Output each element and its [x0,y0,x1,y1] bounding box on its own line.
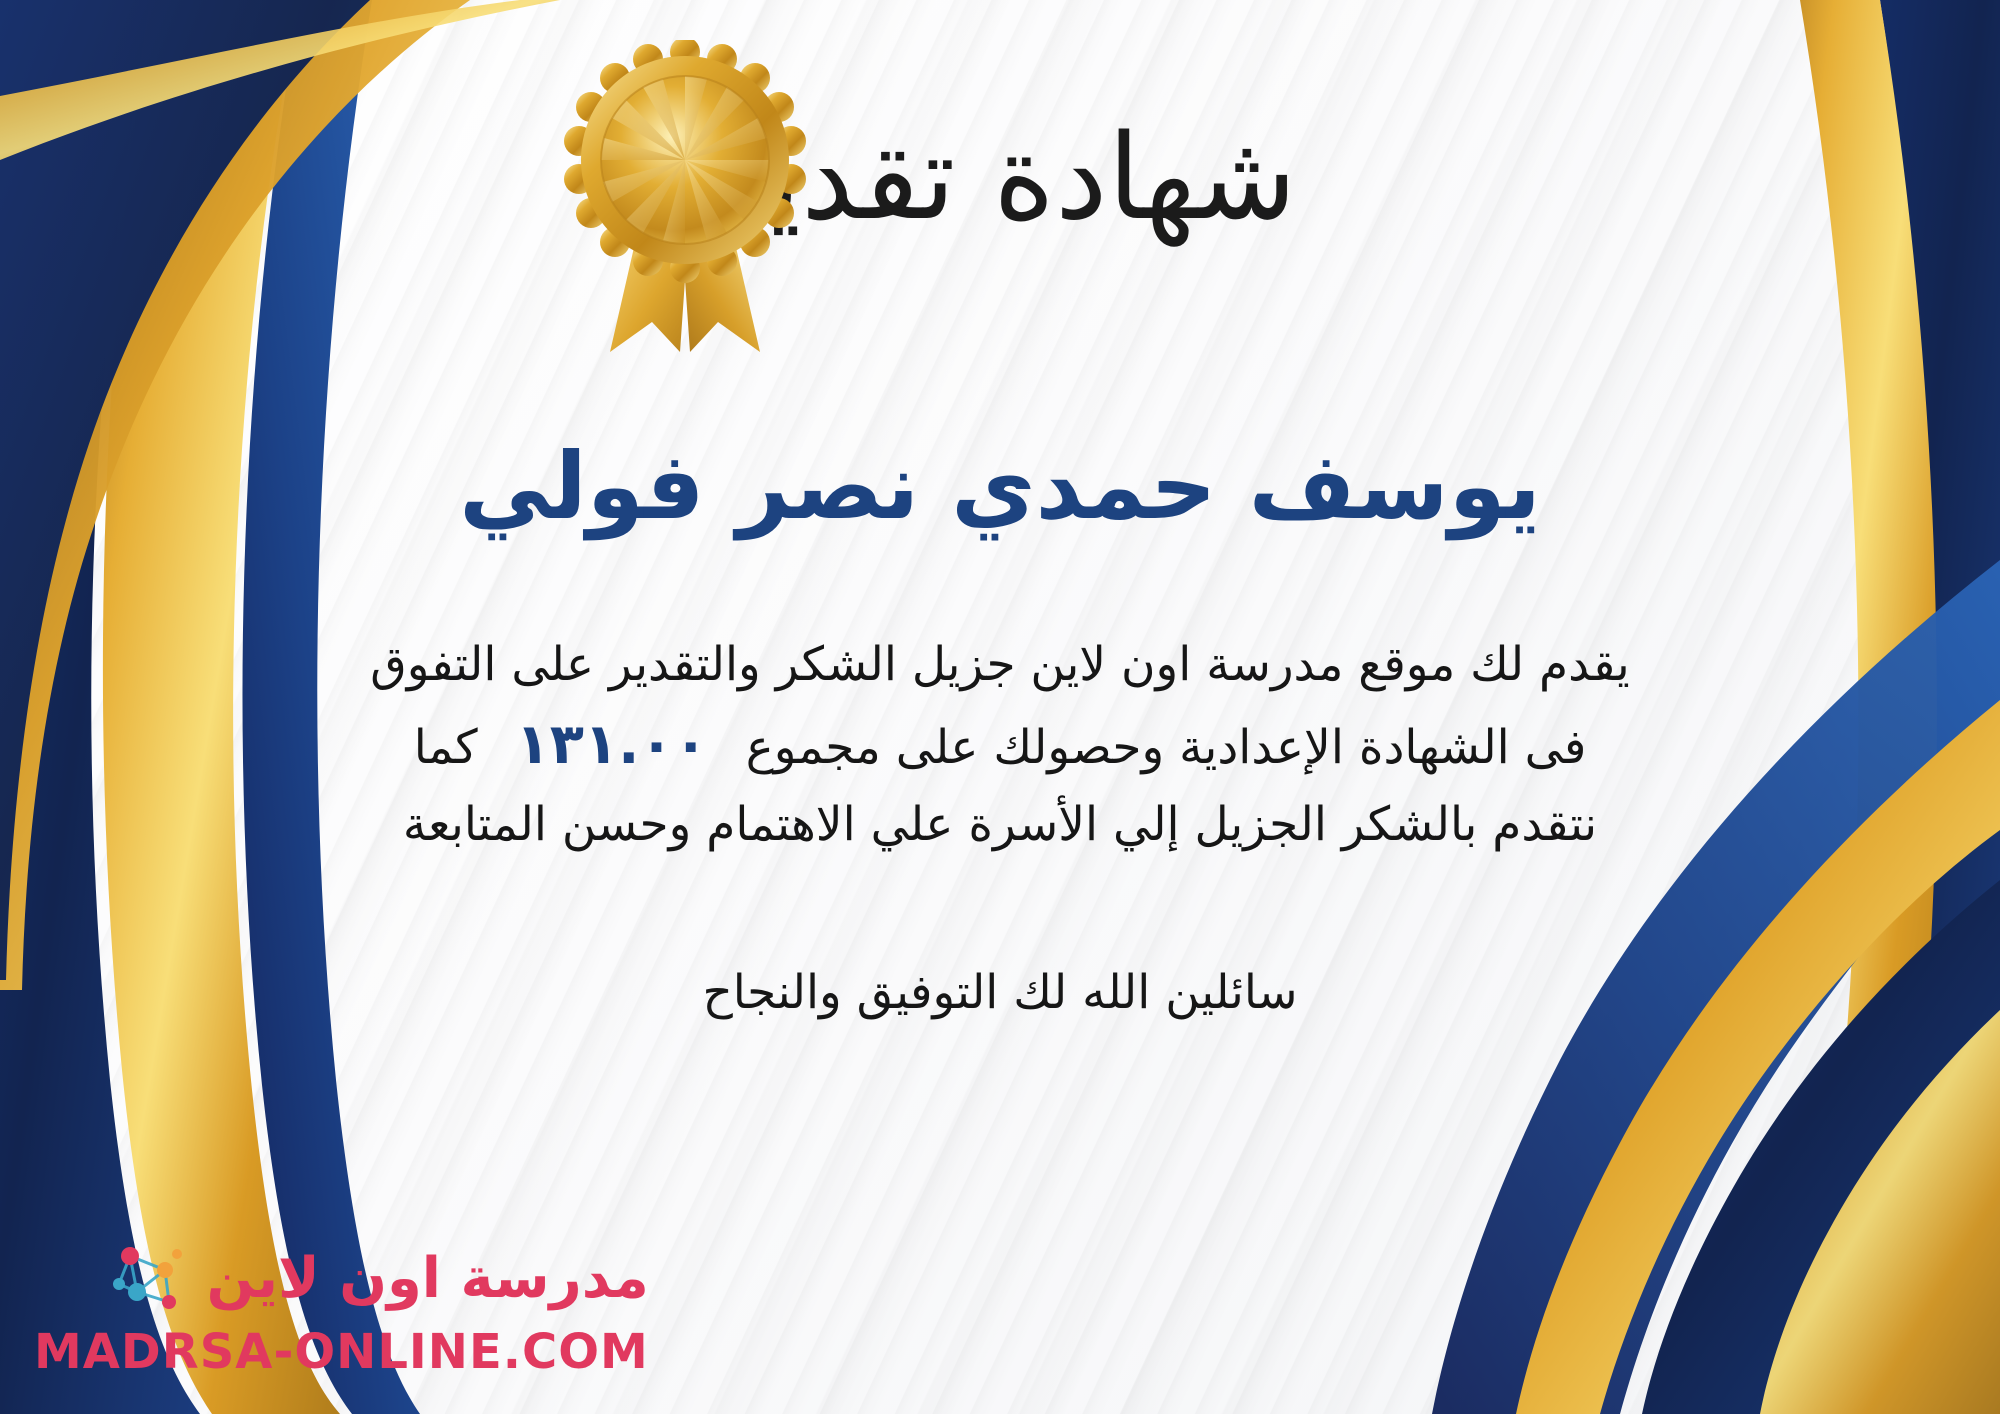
body-line-2-suffix: كما [414,720,478,775]
body-line-1: يقدم لك موقع مدرسة اون لاين جزيل الشكر و… [60,629,1940,702]
body-line-2-prefix: فى الشهادة الإعدادية وحصولك على مجموع [746,720,1587,775]
total-score-value: ١٣١.٠٠ [478,702,746,789]
certificate-body: يقدم لك موقع مدرسة اون لاين جزيل الشكر و… [60,629,1940,861]
page-title: شهادة تقدير [0,118,2000,236]
body-line-2: فى الشهادة الإعدادية وحصولك على مجموع١٣١… [60,702,1940,789]
gold-medal-rosette-icon [560,40,810,360]
body-line-3: نتقدم بالشكر الجزيل إلي الأسرة علي الاهت… [60,789,1940,862]
certificate-canvas: شهادة تقدير يوسف حمدي نصر فولي يقدم لك م… [0,0,2000,1414]
network-nodes-icon [107,1236,193,1322]
brand-logo[interactable]: مدرسة اون لاين [34,1236,649,1380]
brand-website-url[interactable]: MADRSA-ONLINE.COM [34,1324,649,1380]
recipient-name: يوسف حمدي نصر فولي [0,436,2000,537]
certificate-content: شهادة تقدير يوسف حمدي نصر فولي يقدم لك م… [0,0,2000,1414]
brand-name-arabic: مدرسة اون لاين [207,1250,649,1309]
closing-wish: سائلين الله لك التوفيق والنجاح [60,958,1940,1029]
